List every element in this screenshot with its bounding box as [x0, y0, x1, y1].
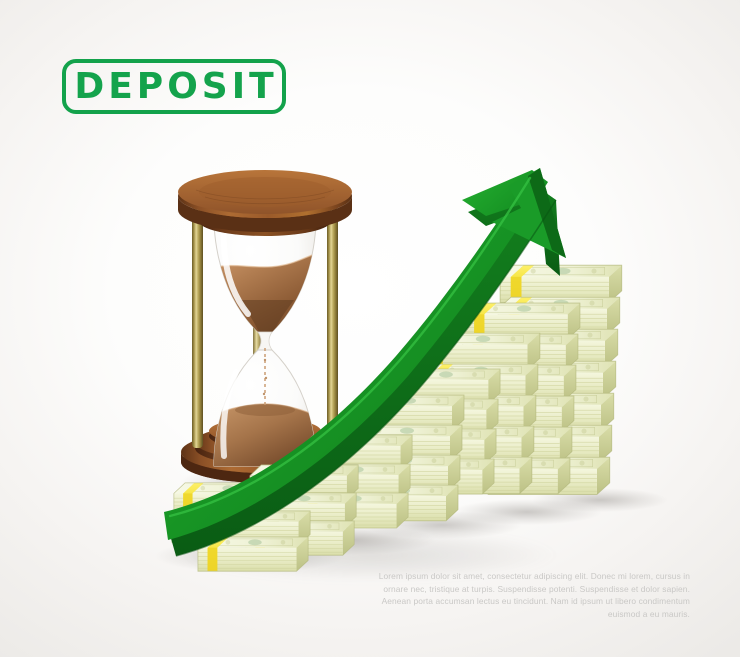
- caption-text: Lorem ipsum dolor sit amet, consectetur …: [368, 570, 690, 620]
- poster-canvas: DEPOSIT: [0, 0, 740, 657]
- hourglass-cap: [178, 170, 352, 236]
- artwork-stage: [0, 0, 740, 657]
